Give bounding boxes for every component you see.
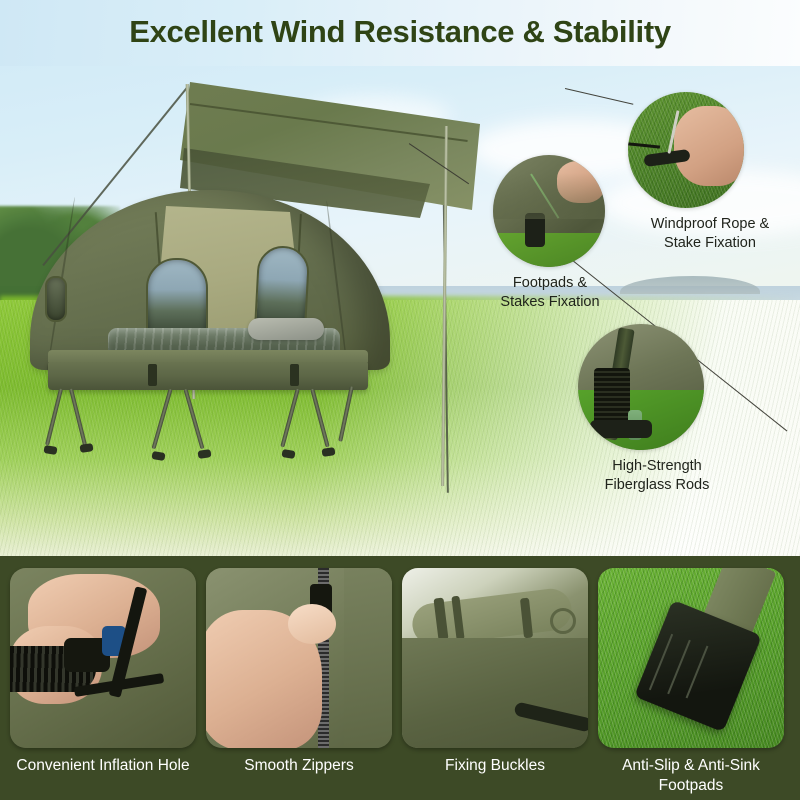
cot-buckle [290, 364, 299, 386]
cot-deck [48, 360, 368, 390]
pillow [248, 318, 324, 340]
feature-inflation-hole-label: Convenient Inflation Hole [10, 756, 196, 776]
callout-windproof-label: Windproof Rope & Stake Fixation [620, 215, 800, 252]
tent-cot-product [0, 0, 470, 500]
feature-fixing-buckles-label: Fixing Buckles [402, 756, 588, 776]
grass-patch [493, 233, 605, 267]
fabric-panel [344, 568, 392, 748]
callout-footpads-image [493, 155, 605, 267]
cot-leg [280, 389, 299, 448]
main-product-scene: Footpads & Stakes Fixation Windproof Rop… [0, 0, 800, 556]
fabric-lower [402, 638, 588, 748]
infographic-page: Footpads & Stakes Fixation Windproof Rop… [0, 0, 800, 800]
cot-buckle [148, 364, 157, 386]
feature-smooth-zippers-label: Smooth Zippers [206, 756, 392, 776]
feature-inflation-hole-image [10, 568, 196, 748]
callout-fiberglass-rods: High-Strength Fiberglass Rods [572, 324, 742, 494]
fingertip-photo [288, 604, 336, 644]
feature-fixing-buckles-image [402, 568, 588, 748]
cot-footpad [281, 449, 295, 459]
feature-smooth-zippers: Smooth Zippers [206, 568, 392, 776]
cot-leg [310, 389, 329, 448]
cot-leg [45, 388, 63, 445]
feature-antislip-footpads-image [598, 568, 784, 748]
fabric-shade [493, 173, 605, 219]
cot-footpad [322, 447, 336, 457]
distant-island [620, 276, 760, 294]
cot-footpad [80, 443, 94, 453]
page-title: Excellent Wind Resistance & Stability [0, 14, 800, 50]
feature-inflation-hole: Convenient Inflation Hole [10, 568, 196, 776]
cot-leg [69, 388, 87, 445]
cot-leg [338, 386, 354, 442]
cot-footpad [198, 449, 212, 459]
mesh-window-side [45, 276, 67, 322]
callout-fiberglass-image [578, 324, 704, 450]
feature-strip: Convenient Inflation Hole Smooth Zippers [0, 556, 800, 800]
footpad-ribbed-photo [594, 368, 630, 424]
callout-footpads: Footpads & Stakes Fixation [465, 155, 635, 311]
hand-photo [674, 106, 744, 186]
callout-windproof-image [628, 92, 744, 208]
callout-fiberglass-label: High-Strength Fiberglass Rods [572, 457, 742, 494]
cot-footpad [43, 445, 57, 455]
buckle-ring [550, 608, 576, 634]
callout-footpads-label: Footpads & Stakes Fixation [465, 274, 635, 311]
feature-fixing-buckles: Fixing Buckles [402, 568, 588, 776]
cot-leg [152, 389, 173, 450]
footpad-base-photo [590, 420, 652, 438]
feature-antislip-footpads: Anti-Slip & Anti-Sink Footpads [598, 568, 784, 796]
callout-windproof-rope: Windproof Rope & Stake Fixation [620, 92, 800, 252]
feature-antislip-footpads-label: Anti-Slip & Anti-Sink Footpads [598, 756, 784, 796]
feature-smooth-zippers-image [206, 568, 392, 748]
cot-footpad [151, 451, 165, 461]
